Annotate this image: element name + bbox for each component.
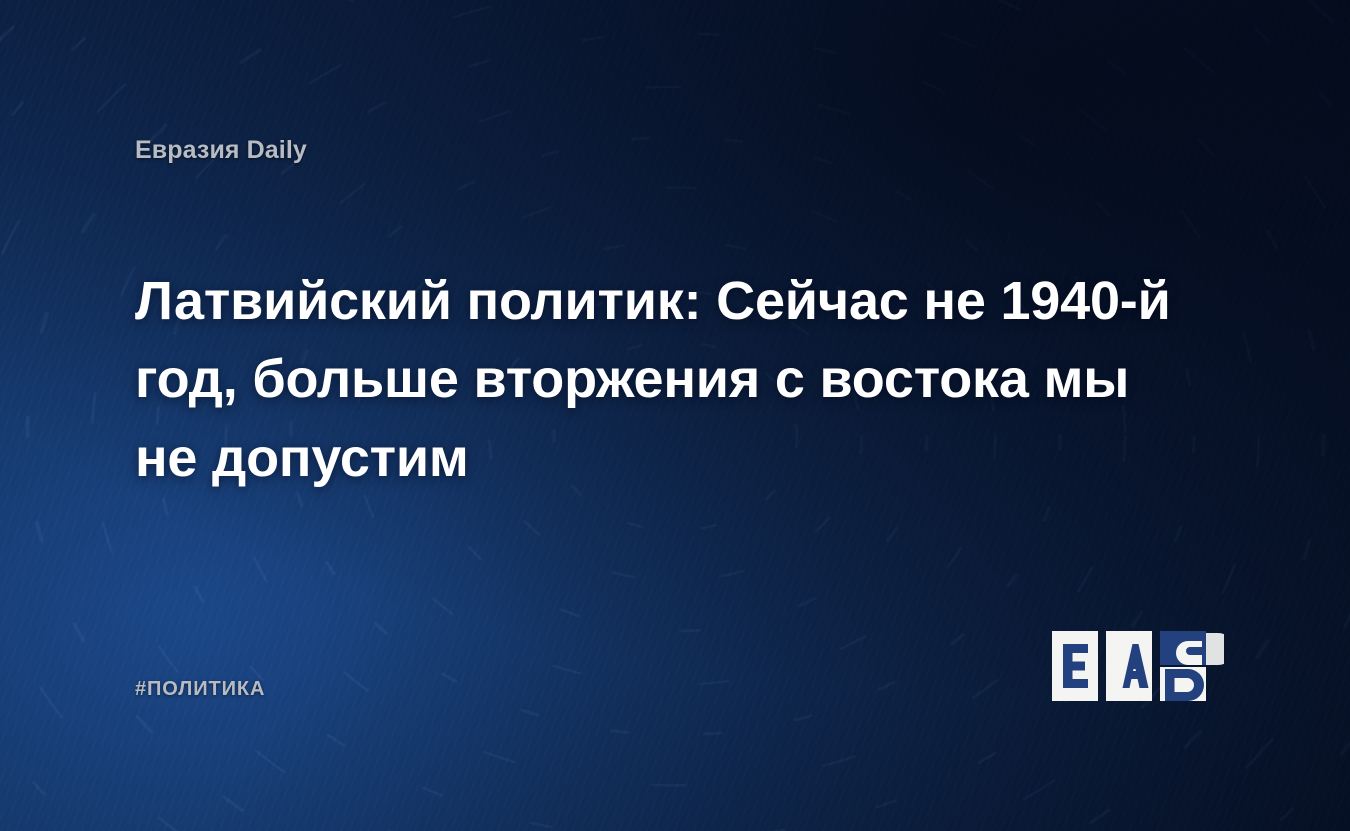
category-tag: #ПОЛИТИКА (135, 678, 265, 701)
card-content: Евразия Daily Латвийский политик: Сейчас… (0, 0, 1350, 831)
brand-name: Евразия Daily (135, 136, 307, 165)
eadaily-logo (1052, 631, 1224, 701)
headline-title: Латвийский политик: Сейчас не 1940-й год… (135, 262, 1195, 497)
social-share-card: Евразия Daily Латвийский политик: Сейчас… (0, 0, 1350, 831)
logo-letter-e (1063, 644, 1088, 688)
